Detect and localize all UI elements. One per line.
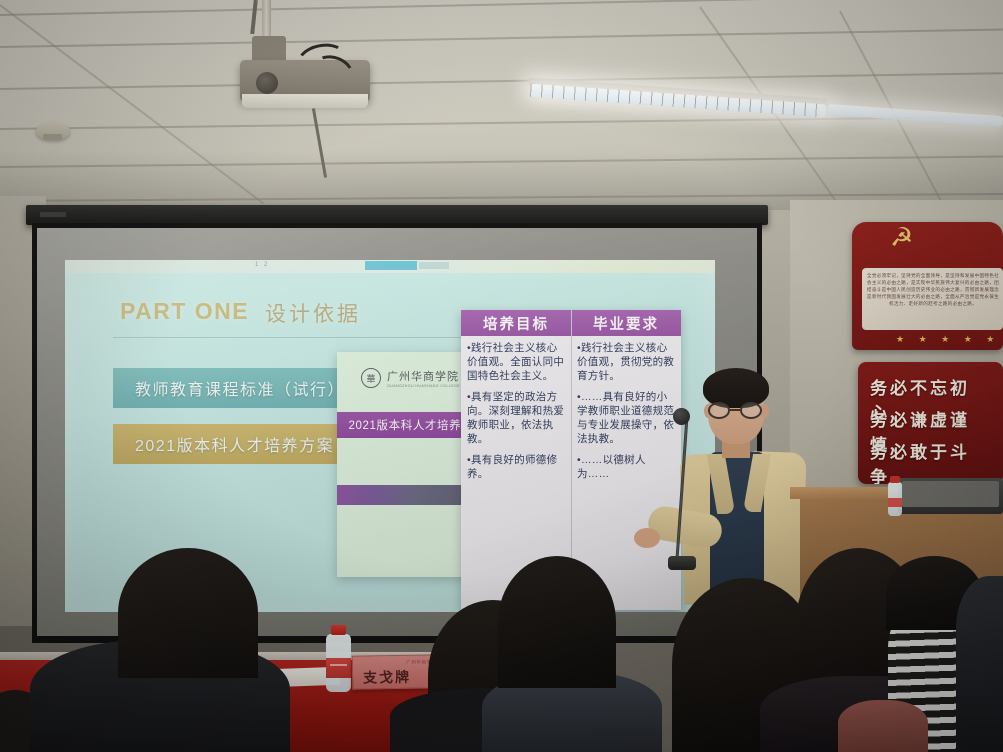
university-name-en: GUANGZHOU HUASHANG COLLEGE (387, 384, 460, 388)
audience-body-7 (956, 576, 1003, 752)
projector-lens-icon (256, 72, 278, 94)
table-header-requirements: 毕业要求 (571, 310, 681, 336)
bottle-label-2 (326, 658, 351, 678)
projection-screen-case (26, 205, 768, 225)
slide-section-label: PART ONE (120, 298, 249, 325)
bottle-cap-icon (890, 476, 900, 483)
university-name: 广州华商学院 GUANGZHOU HUASHANG COLLEGE (387, 368, 460, 388)
slide-section-title: 设计依据 (265, 298, 361, 328)
party-banner-main: 务必不忘初心、 务必谦虚谨慎、 务必敢于斗争、 (858, 362, 1003, 484)
slide-topbar: 1 2 (65, 260, 715, 273)
smoke-detector-icon (36, 122, 70, 140)
party-banner-top: ☭ 全党必须牢记，坚持党的全面领导，是坚持和发展中国特色社会主义的必由之路，是实… (852, 222, 1003, 350)
bottle-label (888, 498, 902, 507)
projector-lens-band (242, 94, 368, 108)
table-header-goals: 培养目标 (461, 310, 571, 336)
party-banner-paragraph: 全党必须牢记，坚持党的全面领导，是坚持和发展中国特色社会主义的必由之路，是实现中… (866, 272, 1000, 328)
water-bottle-podium (888, 482, 902, 516)
audience-body-8 (838, 700, 928, 752)
water-bottle-table (326, 634, 351, 692)
projector-rod (262, 0, 271, 40)
table-cell-goal-2: •具有坚定的政治方向。深刻理解和热爱教师职业，依法执教。 (467, 390, 565, 446)
university-seal-icon: 華 (361, 368, 381, 388)
glasses-icon-right (740, 402, 762, 419)
audience-head-3 (498, 556, 616, 688)
table-cell-goal-3: •具有良好的师德修养。 (467, 453, 565, 481)
table-column-goals: •践行社会主义核心价值观。全面认同中国特色社会主义。 •具有坚定的政治方向。深刻… (461, 336, 571, 488)
bottle-cap-icon-2 (331, 625, 346, 635)
glasses-icon-left (708, 402, 730, 419)
lecture-hall-photo: ☭ 全党必须牢记，坚持党的全面领导，是坚持和发展中国特色社会主义的必由之路，是实… (0, 0, 1003, 752)
glasses-bridge (730, 409, 740, 411)
microphone-base (668, 556, 696, 570)
podium-monitor (898, 478, 1003, 514)
banner-star-row: ★ ★ ★ ★ ★ (896, 334, 1000, 345)
name-plate-name: 支戈牌 (363, 667, 411, 688)
university-logo: 華 广州华商学院 GUANGZHOU HUASHANG COLLEGE (361, 368, 460, 388)
slide-pill-standard-label: 教师教育课程标准（试行） (135, 376, 345, 400)
university-name-cn: 广州华商学院 (387, 371, 459, 383)
presenter-hand (634, 528, 660, 548)
microphone-icon (673, 408, 690, 425)
slide-topbar-text: 1 2 (255, 262, 269, 268)
slide-pill-plan-label: 2021版本科人才培养方案 (135, 432, 334, 456)
projector-mount (252, 36, 286, 62)
hammer-sickle-icon: ☭ (890, 224, 913, 250)
slide-topbar-highlight (365, 261, 417, 270)
table-cell-goal-1: •践行社会主义核心价值观。全面认同中国特色社会主义。 (467, 341, 565, 383)
